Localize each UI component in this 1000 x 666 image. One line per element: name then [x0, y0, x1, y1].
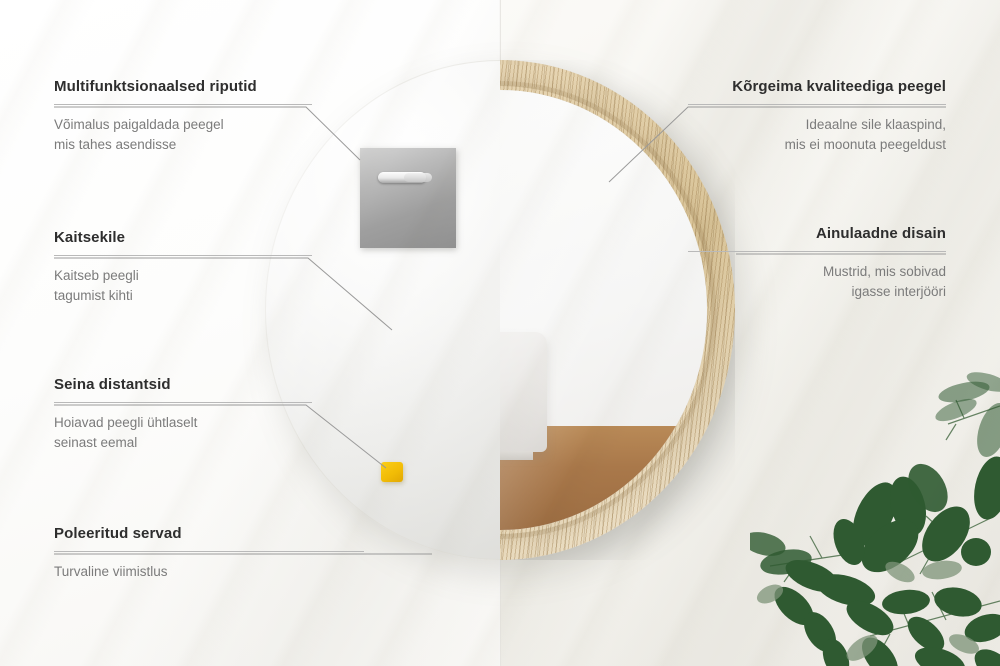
- callout-rule: [688, 104, 946, 105]
- reflected-sofa: [500, 332, 547, 452]
- callout-description-line-2: seinast eemal: [54, 435, 137, 450]
- callout-description: Mustrid, mis sobivad igasse interjööri: [688, 262, 946, 301]
- wall-spacer-detail: [381, 462, 403, 482]
- callout-title: Ainulaadne disain: [688, 225, 946, 242]
- callout-description: Turvaline viimistlus: [54, 562, 364, 582]
- callout-rule: [54, 551, 364, 552]
- callout-poleeritud-servad: Poleeritud servad Turvaline viimistlus: [54, 525, 364, 582]
- callout-title: Multifunktsionaalsed riputid: [54, 78, 312, 95]
- callout-rule: [54, 402, 312, 403]
- callout-rule: [54, 104, 312, 105]
- callout-description: Võimalus paigaldada peegel mis tahes ase…: [54, 115, 312, 154]
- callout-description: Kaitseb peegli tagumist kihti: [54, 266, 312, 305]
- keyhole-slot-highlight: [404, 173, 432, 182]
- callout-description: Hoiavad peegli ühtlaselt seinast eemal: [54, 413, 312, 452]
- hanging-bracket-detail: [360, 148, 456, 248]
- callout-ainulaadne-disain: Ainulaadne disain Mustrid, mis sobivad i…: [688, 225, 946, 301]
- callout-title: Kõrgeima kvaliteediga peegel: [688, 78, 946, 95]
- reflected-sofa-base: [500, 451, 533, 460]
- callout-rule: [54, 255, 312, 256]
- callout-description-line-1: Ideaalne sile klaaspind,: [806, 117, 946, 132]
- callout-title: Seina distantsid: [54, 376, 312, 393]
- callout-rule: [688, 251, 946, 252]
- callout-title: Poleeritud servad: [54, 525, 364, 542]
- callout-description-line-2: mis tahes asendisse: [54, 137, 176, 152]
- callout-description-line-2: igasse interjööri: [851, 284, 946, 299]
- callout-description: Ideaalne sile klaaspind, mis ei moonuta …: [688, 115, 946, 154]
- callout-multifunktsionaalsed-riputid: Multifunktsionaalsed riputid Võimalus pa…: [54, 78, 312, 154]
- callout-description-line-2: mis ei moonuta peegeldust: [785, 137, 946, 152]
- callout-description-line-1: Turvaline viimistlus: [54, 564, 168, 579]
- callout-seina-distantsid: Seina distantsid Hoiavad peegli ühtlasel…: [54, 376, 312, 452]
- callout-description-line-1: Võimalus paigaldada peegel: [54, 117, 224, 132]
- callout-kaitsekile: Kaitsekile Kaitseb peegli tagumist kihti: [54, 229, 312, 305]
- callout-description-line-1: Kaitseb peegli: [54, 268, 139, 283]
- callout-description-line-1: Mustrid, mis sobivad: [823, 264, 946, 279]
- callout-title: Kaitsekile: [54, 229, 312, 246]
- callout-description-line-1: Hoiavad peegli ühtlaselt: [54, 415, 197, 430]
- callout-korgeima-kvaliteediga-peegel: Kõrgeima kvaliteediga peegel Ideaalne si…: [688, 78, 946, 154]
- mirror-glass: [500, 90, 707, 530]
- product-feature-infographic: Multifunktsionaalsed riputid Võimalus pa…: [0, 0, 1000, 666]
- mirror-product: [265, 60, 735, 560]
- callout-description-line-2: tagumist kihti: [54, 288, 133, 303]
